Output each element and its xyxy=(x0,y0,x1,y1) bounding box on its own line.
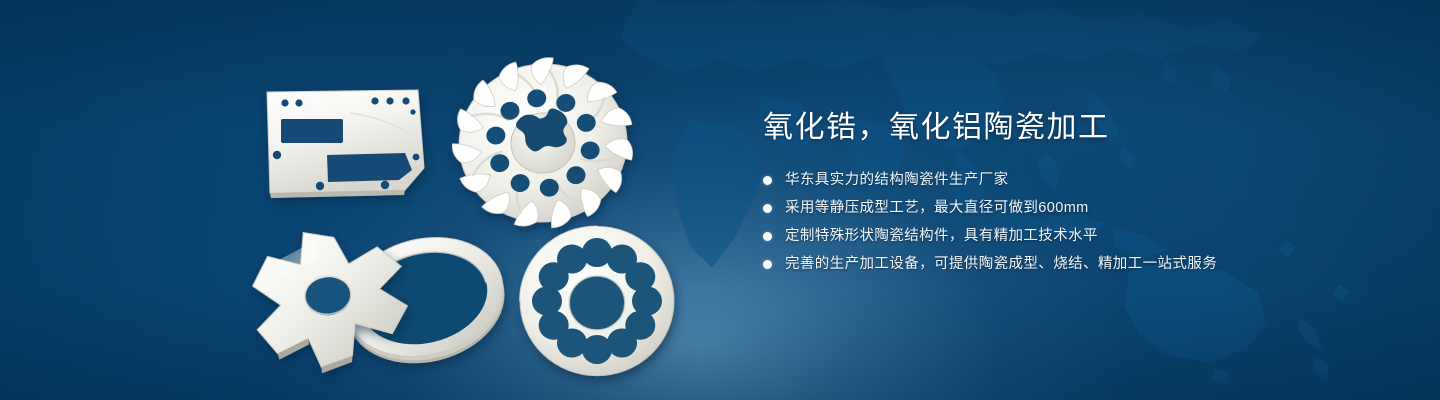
feature-text: 采用等静压成型工艺，最大直径可做到600mm xyxy=(785,198,1089,218)
bullet-dot-icon xyxy=(763,204,772,213)
bullet-dot-icon xyxy=(763,232,772,241)
bullet-dot-icon xyxy=(763,260,772,269)
page-title: 氧化锆，氧化铝陶瓷加工 xyxy=(763,108,1383,148)
list-item: 采用等静压成型工艺，最大直径可做到600mm xyxy=(763,198,1383,218)
feature-list: 华东具实力的结构陶瓷件生产厂家 采用等静压成型工艺，最大直径可做到600mm 定… xyxy=(763,170,1383,274)
feature-text: 华东具实力的结构陶瓷件生产厂家 xyxy=(785,170,1009,190)
feature-text: 完善的生产加工设备，可提供陶瓷成型、烧结、精加工一站式服务 xyxy=(785,254,1217,274)
list-item: 华东具实力的结构陶瓷件生产厂家 xyxy=(763,170,1383,190)
hero-banner: 氧化锆，氧化铝陶瓷加工 华东具实力的结构陶瓷件生产厂家 采用等静压成型工艺，最大… xyxy=(0,0,1440,400)
list-item: 定制特殊形状陶瓷结构件，具有精加工技术水平 xyxy=(763,226,1383,246)
feature-text: 定制特殊形状陶瓷结构件，具有精加工技术水平 xyxy=(785,226,1098,246)
list-item: 完善的生产加工设备，可提供陶瓷成型、烧结、精加工一站式服务 xyxy=(763,254,1383,274)
bullet-dot-icon xyxy=(763,176,772,185)
banner-copy: 氧化锆，氧化铝陶瓷加工 华东具实力的结构陶瓷件生产厂家 采用等静压成型工艺，最大… xyxy=(763,108,1383,274)
